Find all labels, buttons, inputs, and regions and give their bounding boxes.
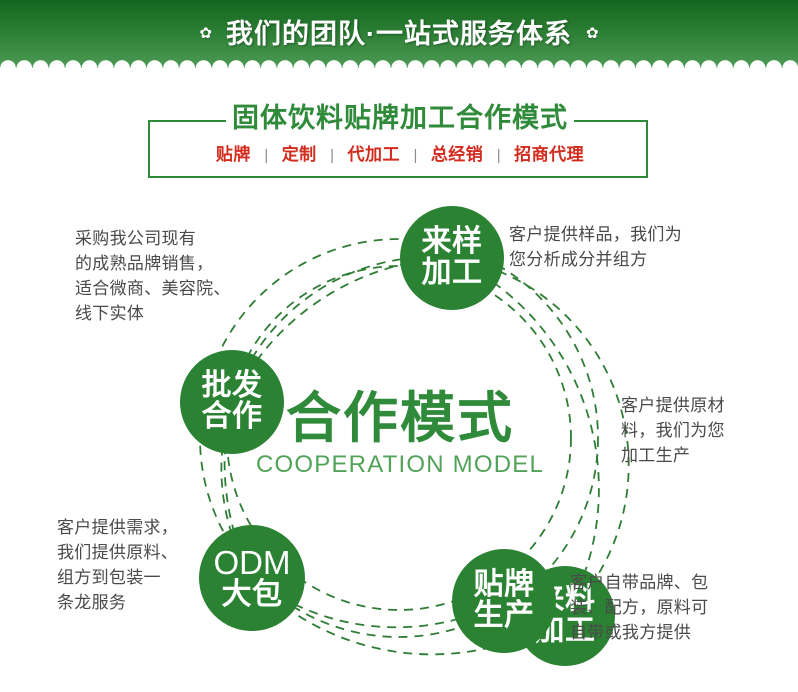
banner-title: 我们的团队·一站式服务体系: [226, 12, 572, 51]
node-label-line2: 生产: [474, 601, 535, 632]
section-heading: 固体饮料贴牌加工合作模式: [150, 101, 650, 135]
cooperation-model-diagram: 合作模式 COOPERATION MODEL 来样 加工 来料 加工 贴牌 生产…: [0, 185, 798, 692]
flower-icon-left: ✿: [199, 26, 212, 41]
caption-right: 客户提供原材 料，我们为您 加工生产: [621, 393, 791, 468]
center-label-cn: 合作模式: [256, 388, 544, 448]
section-title-box: 固体饮料贴牌加工合作模式 贴牌 | 定制 | 代加工 | 总经销 | 招商代理: [148, 120, 648, 178]
keyword-item-4: 招商代理: [514, 145, 584, 164]
node-label-line2: 合作: [202, 402, 263, 433]
banner-content: ✿ 我们的团队·一站式服务体系 ✿: [0, 0, 798, 62]
keyword-separator-2: |: [404, 147, 426, 164]
keyword-item-3: 总经销: [431, 145, 484, 164]
flower-icon-right: ✿: [586, 26, 599, 41]
center-label-en: COOPERATION MODEL: [256, 450, 544, 480]
caption-bottom-right: 客户自带品牌、包 装、配方，原料可 自带或我方提供: [570, 570, 790, 645]
node-label-line1: 批发: [202, 371, 263, 402]
section-heading-text: 固体饮料贴牌加工合作模式: [226, 101, 574, 135]
page-banner: ✿ 我们的团队·一站式服务体系 ✿: [0, 0, 798, 68]
node-tiepai-shengchan[interactable]: 贴牌 生产: [452, 549, 556, 653]
keyword-item-1: 定制: [282, 145, 317, 164]
node-label-line2: 加工: [422, 258, 483, 289]
keyword-item-2: 代加工: [348, 145, 401, 164]
keyword-separator-3: |: [488, 147, 510, 164]
scalloped-edge: [0, 57, 798, 68]
keyword-item-0: 贴牌: [216, 145, 251, 164]
keyword-separator-0: |: [255, 147, 277, 164]
caption-top-left: 采购我公司现有 的成熟品牌销售， 适合微商、美容院、 线下实体: [75, 226, 275, 326]
caption-top-right: 客户提供样品，我们为 您分析成分并组方: [509, 222, 744, 272]
node-label-line1: 贴牌: [474, 570, 535, 601]
node-pifa-hezuo[interactable]: 批发 合作: [180, 350, 284, 454]
keyword-list: 贴牌 | 定制 | 代加工 | 总经销 | 招商代理: [150, 140, 650, 165]
caption-bottom-left: 客户提供需求， 我们提供原料、 组方到包装一 条龙服务: [57, 515, 242, 615]
keyword-separator-1: |: [321, 147, 343, 164]
node-label-line1: 来样: [422, 227, 483, 258]
diagram-center-label: 合作模式 COOPERATION MODEL: [256, 388, 544, 480]
node-laiyang-jiagong[interactable]: 来样 加工: [400, 206, 504, 310]
